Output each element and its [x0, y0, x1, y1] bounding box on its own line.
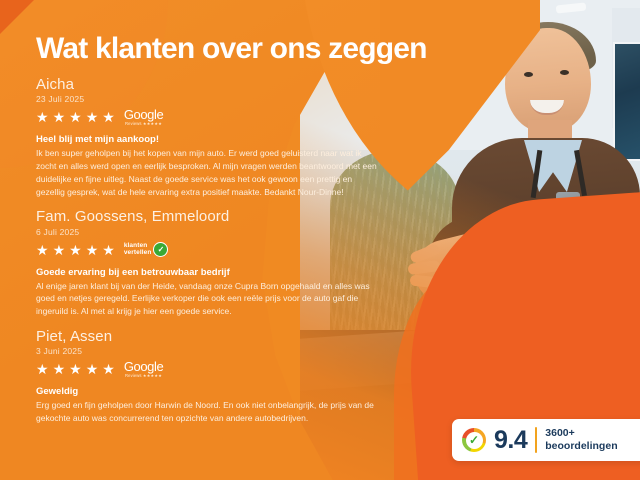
star-icon: ★	[86, 243, 99, 257]
star-icon: ★	[53, 110, 66, 124]
review-item: Fam. Goossens, Emmeloord 6 Juli 2025 ★ ★…	[36, 208, 416, 318]
review-count-label: beoordelingen	[545, 440, 617, 453]
review-body: Ik ben super geholpen bij het kopen van …	[36, 147, 381, 198]
overall-rating-badge[interactable]: ✓ 9.4 3600+ beoordelingen	[452, 419, 640, 461]
testimonials-banner: VDH VDH Wat klanten over ons zeggen	[0, 0, 640, 480]
review-item: Piet, Assen 3 Juni 2025 ★ ★ ★ ★ ★ Google…	[36, 328, 416, 425]
divider	[535, 427, 537, 453]
review-author: Piet, Assen	[36, 328, 416, 345]
kiyoh-inner: ✓	[466, 432, 483, 449]
klantenvertellen-wordmark: klanten vertellen	[124, 243, 152, 257]
review-body: Erg goed en fijn geholpen door Harwin de…	[36, 399, 381, 425]
review-author: Aicha	[36, 76, 416, 93]
klantenvertellen-line2: vertellen	[124, 250, 152, 257]
review-rating-row: ★ ★ ★ ★ ★ klanten vertellen ✓	[36, 240, 416, 260]
review-body: Al enige jaren klant bij van der Heide, …	[36, 280, 381, 318]
star-rating: ★ ★ ★ ★ ★	[36, 362, 115, 376]
star-icon: ★	[102, 243, 115, 257]
review-date: 6 Juli 2025	[36, 227, 416, 237]
star-icon: ★	[102, 362, 115, 376]
review-title: Goede ervaring bij een betrouwbaar bedri…	[36, 267, 416, 278]
rating-meta: 3600+ beoordelingen	[545, 427, 617, 452]
star-icon: ★	[36, 362, 49, 376]
star-icon: ★	[102, 110, 115, 124]
star-icon: ★	[69, 110, 82, 124]
review-author: Fam. Goossens, Emmeloord	[36, 208, 416, 225]
star-icon: ★	[53, 243, 66, 257]
review-date: 3 Juni 2025	[36, 346, 416, 356]
review-date: 23 Juli 2025	[36, 94, 416, 104]
star-icon: ★	[36, 243, 49, 257]
review-rating-row: ★ ★ ★ ★ ★ Google Reviews ★★★★★	[36, 359, 416, 379]
star-rating: ★ ★ ★ ★ ★	[36, 110, 115, 124]
review-list: Aicha 23 Juli 2025 ★ ★ ★ ★ ★ Google Revi…	[36, 76, 416, 435]
google-reviews-badge[interactable]: Google Reviews ★★★★★	[124, 108, 164, 126]
google-reviews-badge[interactable]: Google Reviews ★★★★★	[124, 360, 164, 378]
google-reviews-subtext: Reviews ★★★★★	[125, 374, 162, 378]
review-title: Heel blij met mijn aankoop!	[36, 134, 416, 145]
kiyoh-logo-icon: ✓	[462, 428, 486, 452]
check-circle-icon: ✓	[153, 242, 168, 257]
review-count: 3600+	[545, 427, 617, 440]
google-reviews-subtext: Reviews ★★★★★	[125, 122, 162, 126]
review-rating-row: ★ ★ ★ ★ ★ Google Reviews ★★★★★	[36, 107, 416, 127]
google-wordmark: Google	[124, 360, 164, 373]
review-title: Geweldig	[36, 386, 416, 397]
star-icon: ★	[53, 362, 66, 376]
star-icon: ★	[86, 110, 99, 124]
page-title: Wat klanten over ons zeggen	[36, 32, 427, 66]
review-item: Aicha 23 Juli 2025 ★ ★ ★ ★ ★ Google Revi…	[36, 76, 416, 198]
klantenvertellen-badge[interactable]: klanten vertellen ✓	[124, 242, 169, 257]
google-wordmark: Google	[124, 108, 164, 121]
rating-score: 9.4	[494, 428, 527, 453]
banner-content: Wat klanten over ons zeggen Aicha 23 Jul…	[0, 0, 640, 480]
star-icon: ★	[69, 243, 82, 257]
star-icon: ★	[86, 362, 99, 376]
star-rating: ★ ★ ★ ★ ★	[36, 243, 115, 257]
star-icon: ★	[36, 110, 49, 124]
star-icon: ★	[69, 362, 82, 376]
check-icon: ✓	[469, 434, 479, 446]
